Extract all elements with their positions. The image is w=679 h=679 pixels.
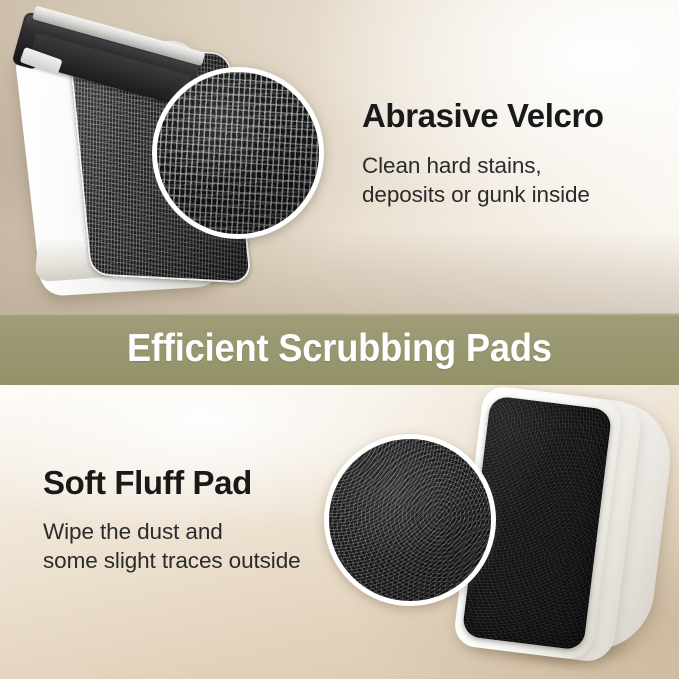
top-feature-panel: Abrasive Velcro Clean hard stains, depos… xyxy=(0,0,679,313)
velcro-closeup-sheen xyxy=(157,72,319,234)
top-body-line-2: deposits or gunk inside xyxy=(362,182,590,207)
bottom-body-text: Wipe the dust and some slight traces out… xyxy=(43,517,373,576)
magnifier-circle-velcro xyxy=(152,67,324,239)
top-text-block: Abrasive Velcro Clean hard stains, depos… xyxy=(362,99,662,209)
banner-top-highlight xyxy=(0,313,679,316)
banner-title: Efficient Scrubbing Pads xyxy=(127,327,552,371)
bottom-heading: Soft Fluff Pad xyxy=(43,466,373,501)
bottom-text-block: Soft Fluff Pad Wipe the dust and some sl… xyxy=(43,466,373,575)
product-infographic: Abrasive Velcro Clean hard stains, depos… xyxy=(0,0,679,679)
top-body-text: Clean hard stains, deposits or gunk insi… xyxy=(362,151,662,210)
bottom-body-line-1: Wipe the dust and xyxy=(43,519,223,544)
top-body-line-1: Clean hard stains, xyxy=(362,153,542,178)
section-banner: Efficient Scrubbing Pads xyxy=(0,313,679,385)
bottom-body-line-2: some slight traces outside xyxy=(43,548,301,573)
top-heading: Abrasive Velcro xyxy=(362,99,662,134)
